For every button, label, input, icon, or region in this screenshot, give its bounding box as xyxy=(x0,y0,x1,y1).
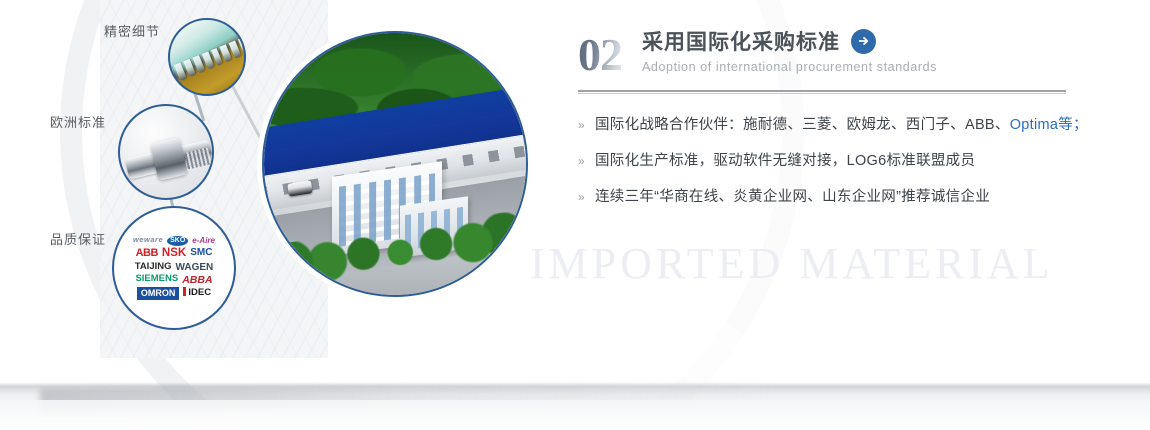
list-item: » 国际化战略合作伙伴：施耐德、三菱、欧姆龙、西门子、ABB、Optima等； xyxy=(578,113,1078,134)
content-column: 02 采用国际化采购标准 Adoption of international p… xyxy=(578,26,1078,222)
section-title-row: 采用国际化采购标准 xyxy=(642,26,937,56)
bullet-text-main: 国际化生产标准，驱动软件无缝对接，LOG6标准联盟成员 xyxy=(595,153,975,169)
promo-banner: 精密细节 欧洲标准 品质保证 weware SKO e-Aire ABB NSK… xyxy=(0,0,1150,430)
bullet-text-main: 国际化战略合作伙伴：施耐德、三菱、欧姆龙、西门子、ABB、 xyxy=(595,117,1010,133)
feature-label-1: 精密细节 xyxy=(104,21,160,40)
bullet-chevron-icon: » xyxy=(578,154,585,168)
list-item: » 国际化生产标准，驱动软件无缝对接，LOG6标准联盟成员 xyxy=(578,149,1078,170)
gear-tooth-icon xyxy=(168,18,246,96)
arrow-right-icon[interactable] xyxy=(851,29,876,54)
section-header: 02 采用国际化采购标准 Adoption of international p… xyxy=(578,26,1078,76)
brand-logo: IDEC xyxy=(183,287,211,299)
section-header-text: 采用国际化采购标准 Adoption of international proc… xyxy=(642,26,937,76)
brand-logo: ABB xyxy=(136,247,158,260)
bullet-text-highlight: Optima等； xyxy=(1010,117,1088,133)
brand-logo: SIEMENS xyxy=(135,274,178,286)
section-number: 02 xyxy=(578,34,626,76)
brand-logo: OMRON xyxy=(137,287,180,299)
brand-logo: SMC xyxy=(190,247,212,260)
bullet-chevron-icon: » xyxy=(578,190,585,204)
screw-nut xyxy=(150,137,188,181)
bullet-text: 连续三年“华商在线、炎黄企业网、山东企业网”推荐诚信企业 xyxy=(595,185,990,206)
ball-screw-icon xyxy=(118,104,214,200)
bullet-text: 国际化生产标准，驱动软件无缝对接，LOG6标准联盟成员 xyxy=(595,149,975,170)
page-title: 采用国际化采购标准 xyxy=(642,26,840,56)
brand-logos-icon: weware SKO e-Aire ABB NSK SMC TAIJING WA… xyxy=(112,206,236,330)
brand-logo: TAIJING xyxy=(135,262,172,274)
section-subtitle: Adoption of international procurement st… xyxy=(642,60,937,74)
factory-photo xyxy=(262,31,528,297)
feature-label-2: 欧洲标准 xyxy=(50,112,106,131)
bottom-fade xyxy=(0,400,1150,430)
feature-bullet-list: » 国际化战略合作伙伴：施耐德、三菱、欧姆龙、西门子、ABB、Optima等； … xyxy=(578,113,1078,206)
bullet-text: 国际化战略合作伙伴：施耐德、三菱、欧姆龙、西门子、ABB、Optima等； xyxy=(595,113,1088,134)
brand-logo: e-Aire xyxy=(192,236,215,246)
brand-logo: SKO xyxy=(167,236,188,246)
brand-logo: WAGEN xyxy=(176,262,214,274)
brand-logo: weware xyxy=(133,236,163,246)
list-item: » 连续三年“华商在线、炎黄企业网、山东企业网”推荐诚信企业 xyxy=(578,185,1078,206)
factory-photo-inner xyxy=(264,33,526,295)
header-divider xyxy=(578,90,1066,94)
bullet-chevron-icon: » xyxy=(578,118,585,132)
brand-logo-list: weware SKO e-Aire ABB NSK SMC TAIJING WA… xyxy=(114,208,234,328)
brand-logo: NSK xyxy=(162,247,186,260)
watermark-text: IMPORTED MATERIAL xyxy=(530,238,1054,289)
brand-logo: ABBA xyxy=(182,274,212,286)
feature-label-3: 品质保证 xyxy=(50,229,106,248)
screw-thread xyxy=(184,148,211,170)
bullet-text-main: 连续三年“华商在线、炎黄企业网、山东企业网”推荐诚信企业 xyxy=(595,189,990,205)
